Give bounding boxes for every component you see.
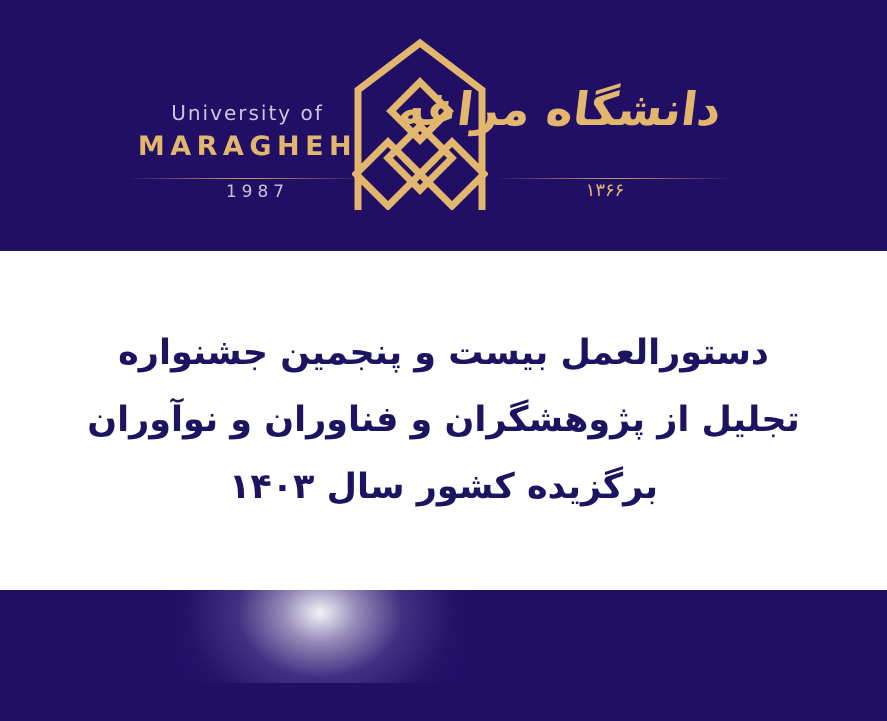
title-line-1: دستورالعمل بیست و پنجمین جشنواره	[118, 320, 769, 387]
logo-university-name-latin: MARAGHEH	[135, 130, 360, 164]
header-band: University of MARAGHEH 1987 دانشگاه مراغ…	[0, 0, 887, 251]
logo-persian-wordmark: دانشگاه مراغه	[486, 86, 721, 132]
logo-latin-wordmark: University of MARAGHEH	[135, 102, 360, 164]
logo-founded-year-latin: 1987	[165, 182, 350, 202]
presentation-slide: University of MARAGHEH 1987 دانشگاه مراغ…	[0, 0, 887, 721]
title-panel: دستورالعمل بیست و پنجمین جشنواره تجلیل ا…	[0, 251, 887, 590]
title-line-3: برگزیده کشور سال ۱۴۰۳	[229, 454, 658, 521]
maragheh-university-emblem-icon	[352, 38, 488, 210]
logo-divider-rule-right	[500, 178, 728, 179]
logo-founded-year-persian: ۱۳۶۶	[505, 180, 705, 201]
footer-spotlight-glow	[175, 590, 465, 683]
logo-university-of-label: University of	[135, 102, 360, 124]
title-line-2: تجلیل از پژوهشگران و فناوران و نوآوران	[87, 387, 799, 454]
university-logo-lockup: University of MARAGHEH 1987 دانشگاه مراغ…	[0, 0, 887, 251]
footer-band	[0, 590, 887, 721]
logo-university-name-persian: دانشگاه مراغه	[483, 86, 724, 132]
logo-divider-rule-left	[132, 178, 360, 179]
